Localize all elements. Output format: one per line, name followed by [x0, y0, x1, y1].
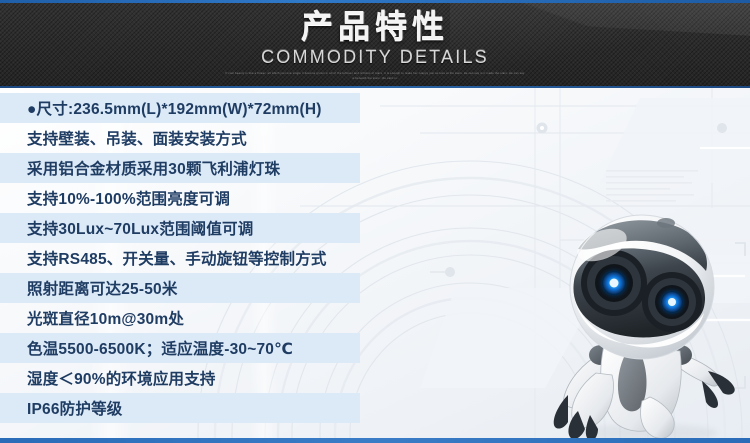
footer-accent-bar	[0, 438, 750, 443]
spec-item: 色温5500-6500K；适应温度-30~70℃	[0, 333, 360, 363]
robot-svg	[538, 205, 750, 443]
spec-item: 采用铝合金材质采用30颗飞利浦灯珠	[0, 153, 360, 183]
spec-list: ●尺寸:236.5mm(L)*192mm(W)*72mm(H) 支持壁装、吊装、…	[0, 93, 360, 423]
spec-item: 湿度＜90%的环境应用支持	[0, 363, 360, 393]
robot-mascot-illustration	[538, 205, 750, 443]
spec-item: 支持30Lux~70Lux范围阈值可调	[0, 213, 360, 243]
header-subtitle-microtext: If cool beauty is like a flower, all whi…	[225, 72, 525, 82]
page-title-en: COMMODITY DETAILS	[261, 47, 489, 68]
spec-item: 照射距离可达25-50米	[0, 273, 360, 303]
spec-item: 光斑直径10m@30m处	[0, 303, 360, 333]
page-title-cn: 产品特性	[301, 10, 449, 44]
product-details-page: 产品特性 COMMODITY DETAILS If cool beauty is…	[0, 0, 750, 443]
spec-item: ●尺寸:236.5mm(L)*192mm(W)*72mm(H)	[0, 93, 360, 123]
spec-item: 支持10%-100%范围亮度可调	[0, 183, 360, 213]
robot-eye-right	[642, 272, 702, 332]
spec-item: 支持壁装、吊装、面装安装方式	[0, 123, 360, 153]
header-content: 产品特性 COMMODITY DETAILS If cool beauty is…	[0, 0, 750, 88]
spec-item: IP66防护等级	[0, 393, 360, 423]
spec-item: 支持RS485、开关量、手动旋钮等控制方式	[0, 243, 360, 273]
robot-body	[568, 345, 681, 440]
page-header: 产品特性 COMMODITY DETAILS If cool beauty is…	[0, 0, 750, 88]
robot-head	[570, 215, 714, 359]
